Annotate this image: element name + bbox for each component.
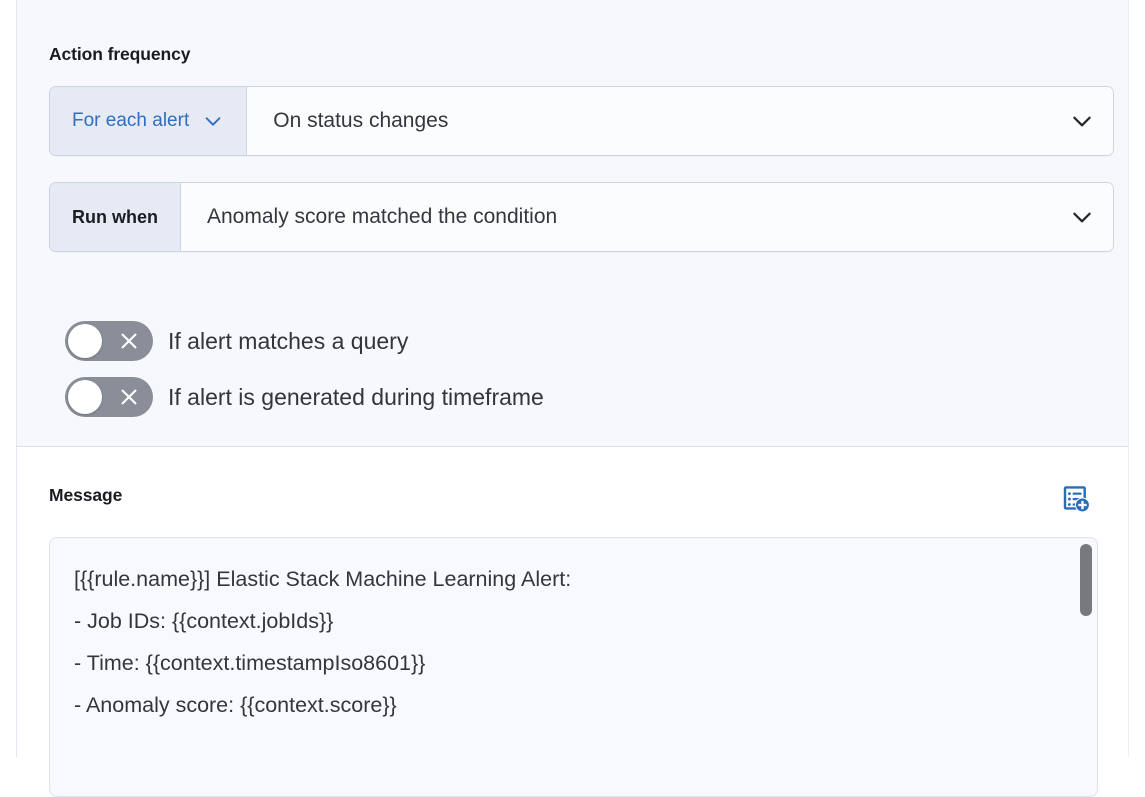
action-frequency-field: For each alert On status changes: [49, 86, 1114, 156]
message-section: Message: [17, 447, 1128, 757]
toggle-label-alert-query: If alert matches a query: [168, 328, 408, 355]
run-when-value: Anomaly score matched the condition: [207, 205, 1069, 229]
cross-icon: [118, 330, 140, 352]
message-textarea[interactable]: [{{rule.name}}] Elastic Stack Machine Le…: [49, 537, 1098, 797]
action-frequency-select[interactable]: On status changes: [247, 87, 1113, 155]
for-each-alert-label: For each alert: [72, 110, 189, 132]
screenshot-root: Action frequency For each alert On statu…: [0, 0, 1145, 757]
chevron-down-icon: [1069, 108, 1095, 134]
toggle-alert-matches-query[interactable]: [65, 321, 153, 361]
run-when-select[interactable]: Anomaly score matched the condition: [181, 183, 1113, 251]
chevron-down-icon: [1069, 204, 1095, 230]
run-when-prepend: Run when: [50, 183, 181, 251]
cross-icon: [118, 386, 140, 408]
action-frequency-title: Action frequency: [49, 44, 190, 65]
toggle-knob: [68, 380, 102, 414]
add-variable-button[interactable]: [1060, 485, 1094, 519]
rule-action-panel: Action frequency For each alert On statu…: [16, 0, 1129, 757]
for-each-alert-dropdown[interactable]: For each alert: [50, 87, 247, 155]
toggle-alert-timeframe[interactable]: [65, 377, 153, 417]
message-scrollbar[interactable]: [1079, 542, 1093, 792]
add-variable-icon: [1062, 485, 1092, 520]
run-when-field: Run when Anomaly score matched the condi…: [49, 182, 1114, 252]
toggle-row-alert-timeframe: If alert is generated during timeframe: [65, 377, 544, 417]
action-frequency-value: On status changes: [273, 109, 1069, 133]
toggle-label-alert-timeframe: If alert is generated during timeframe: [168, 384, 544, 411]
message-title: Message: [49, 485, 122, 506]
toggle-row-alert-query: If alert matches a query: [65, 321, 408, 361]
chevron-down-icon: [202, 110, 224, 132]
run-when-label: Run when: [72, 207, 158, 228]
action-frequency-section: Action frequency For each alert On statu…: [17, 0, 1128, 447]
message-textarea-value: [{{rule.name}}] Elastic Stack Machine Le…: [74, 558, 1057, 726]
toggle-knob: [68, 324, 102, 358]
message-scrollbar-thumb[interactable]: [1080, 544, 1092, 616]
